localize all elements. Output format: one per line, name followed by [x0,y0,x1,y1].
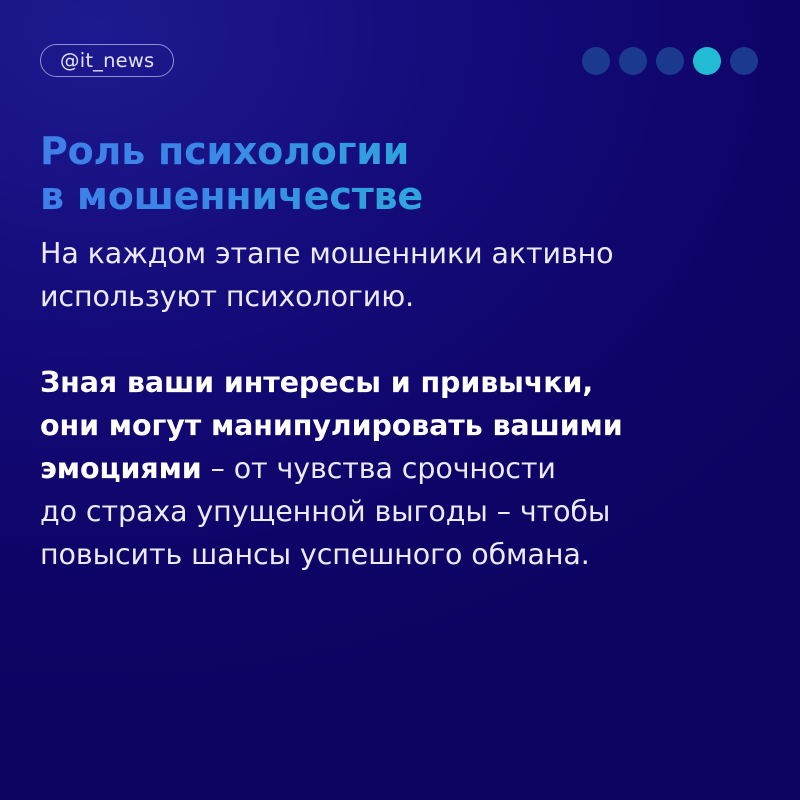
lead-paragraph-line-1: На каждом этапе мошенники активно [40,232,740,275]
progress-dot-2[interactable] [619,47,647,75]
main-paragraph: Зная ваши интересы и привычки, они могут… [40,361,740,576]
main-paragraph-bold-line-3-start: эмоциями [40,452,202,485]
progress-dot-5[interactable] [730,47,758,75]
progress-dot-1[interactable] [582,47,610,75]
progress-dot-4-active[interactable] [693,47,721,75]
top-bar: @it_news [0,0,800,122]
main-paragraph-bold-line-1: Зная ваши интересы и привычки, [40,361,740,404]
lead-paragraph-line-2: используют психологию. [40,275,740,318]
handle-badge[interactable]: @it_news [40,44,174,77]
main-paragraph-line-3-rest: – от чувства срочности [202,452,556,485]
progress-dots [582,47,758,75]
main-paragraph-line-3: эмоциями – от чувства срочности [40,447,740,490]
headline: Роль психологии в мошенничестве [40,129,740,219]
headline-line-1: Роль психологии [40,129,740,174]
main-paragraph-bold-line-2: они могут манипулировать вашими [40,404,740,447]
slide-canvas: @it_news Роль психологии в мошенничестве… [0,0,800,800]
lead-paragraph: На каждом этапе мошенники активно исполь… [40,232,740,318]
headline-line-2: в мошенничестве [40,174,740,219]
progress-dot-3[interactable] [656,47,684,75]
main-paragraph-line-4: до страха упущенной выгоды – чтобы [40,490,740,533]
handle-badge-label: @it_news [60,51,154,71]
main-paragraph-line-5: повысить шансы успешного обмана. [40,533,740,576]
body-copy: На каждом этапе мошенники активно исполь… [40,232,740,576]
